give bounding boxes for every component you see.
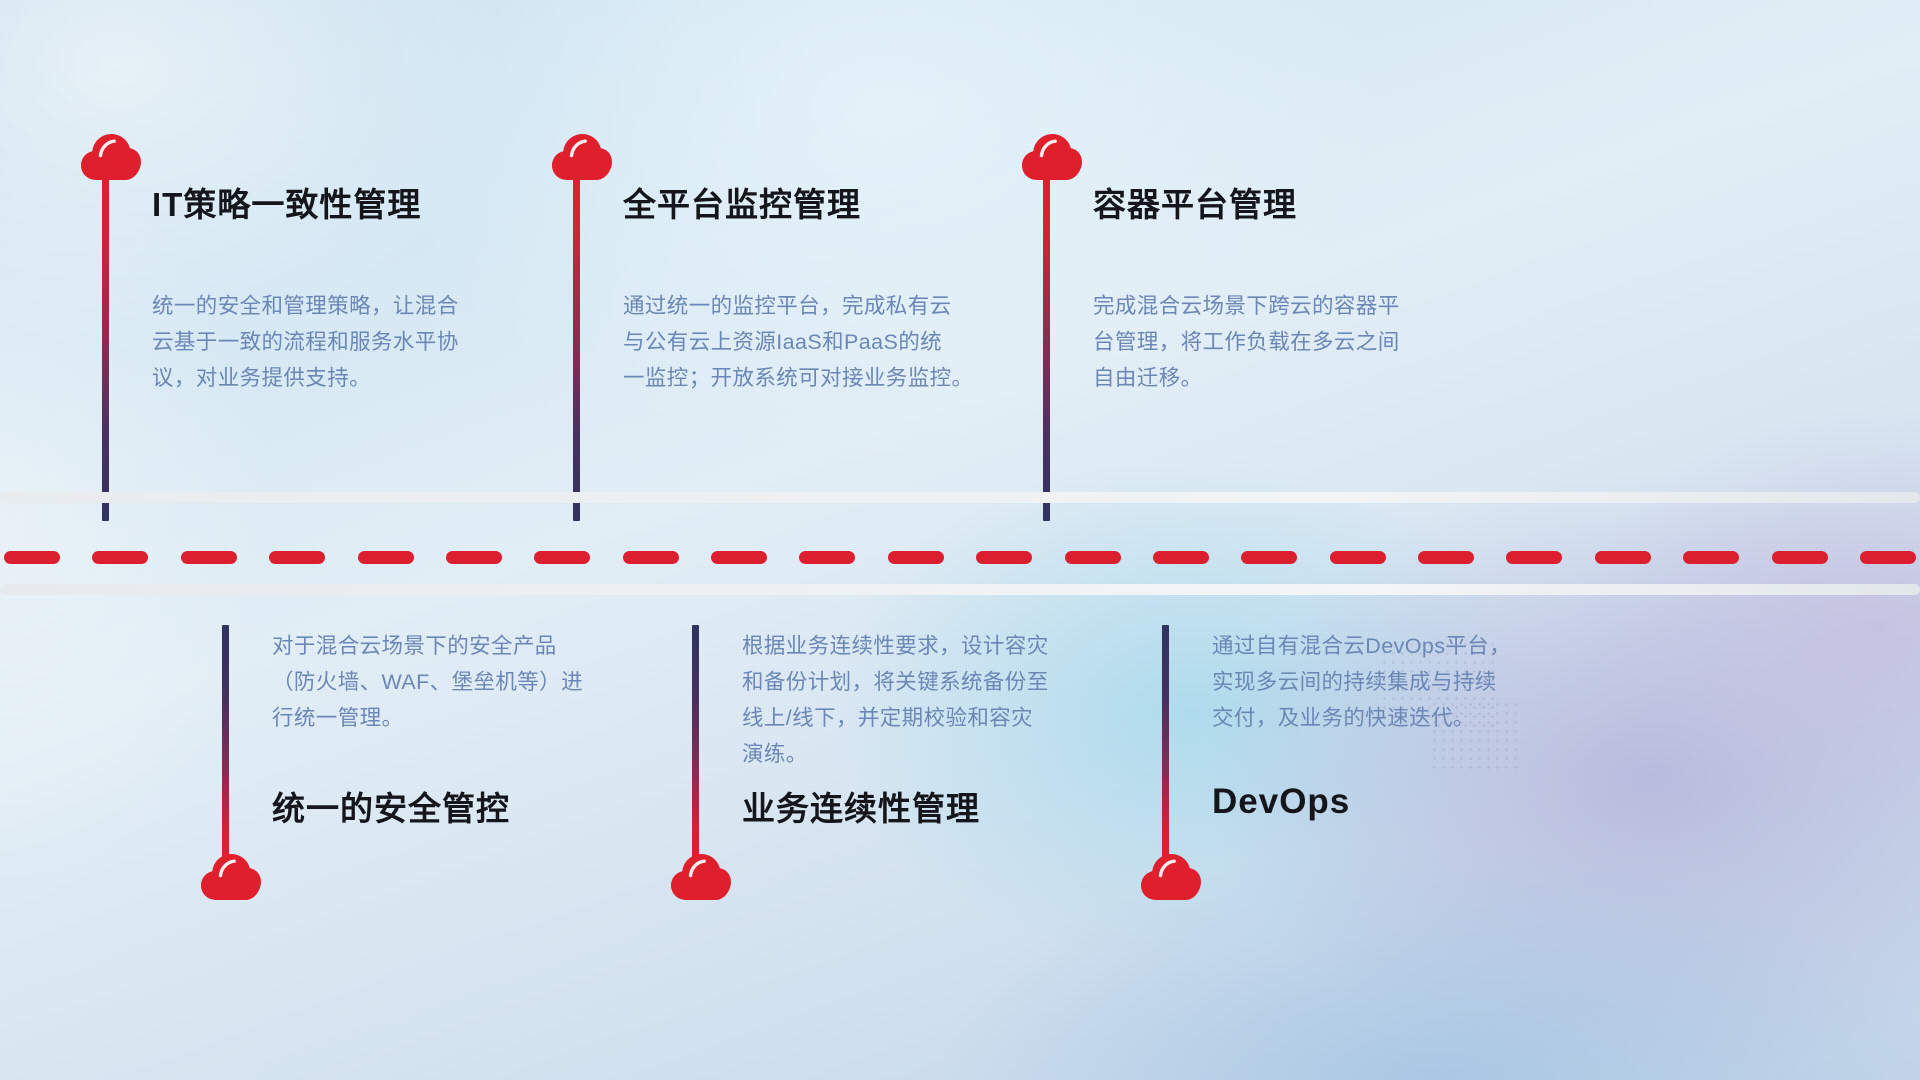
dash-segment	[888, 551, 944, 564]
description-line: 行统一管理。	[272, 700, 652, 736]
background-noise-texture	[0, 0, 1920, 1080]
dash-segment	[1065, 551, 1121, 564]
dash-segment	[711, 551, 767, 564]
description-line: 完成混合云场景下跨云的容器平	[1093, 288, 1473, 324]
dash-segment	[623, 551, 679, 564]
dash-segment	[799, 551, 855, 564]
cloud-icon	[551, 133, 613, 181]
cloud-icon	[670, 853, 732, 901]
dash-segment	[1418, 551, 1474, 564]
card-title: 业务连续性管理	[742, 782, 980, 830]
description-line: （防火墙、WAF、堡垒机等）进	[272, 664, 652, 700]
divider-bar-top	[0, 492, 1920, 503]
cloud-icon	[1140, 853, 1202, 901]
dash-segment	[358, 551, 414, 564]
card-description: 对于混合云场景下的安全产品 （防火墙、WAF、堡垒机等）进 行统一管理。	[272, 628, 652, 736]
dashed-separator	[0, 551, 1920, 564]
description-line: 线上/线下，并定期校验和容灾	[742, 700, 1122, 736]
description-line: 通过统一的监控平台，完成私有云	[623, 288, 1003, 324]
dash-segment	[92, 551, 148, 564]
dash-segment	[1506, 551, 1562, 564]
dash-segment	[1241, 551, 1297, 564]
description-line: 与公有云上资源IaaS和PaaS的统	[623, 324, 1003, 360]
dash-segment	[1330, 551, 1386, 564]
card-description: 完成混合云场景下跨云的容器平 台管理，将工作负载在多云之间 自由迁移。	[1093, 288, 1473, 396]
dash-segment	[446, 551, 502, 564]
description-line: 台管理，将工作负载在多云之间	[1093, 324, 1473, 360]
dash-segment	[181, 551, 237, 564]
card-title: 全平台监控管理	[623, 178, 861, 226]
description-line: 一监控；开放系统可对接业务监控。	[623, 360, 1003, 396]
description-line: 对于混合云场景下的安全产品	[272, 628, 652, 664]
dash-segment	[1772, 551, 1828, 564]
dash-segment	[976, 551, 1032, 564]
description-line: 实现多云间的持续集成与持续	[1212, 664, 1592, 700]
description-line: 自由迁移。	[1093, 360, 1473, 396]
description-line: 根据业务连续性要求，设计容灾	[742, 628, 1122, 664]
dash-segment	[4, 551, 60, 564]
description-line: 统一的安全和管理策略，让混合	[152, 288, 532, 324]
dash-segment	[1683, 551, 1739, 564]
card-description: 根据业务连续性要求，设计容灾 和备份计划，将关键系统备份至 线上/线下，并定期校…	[742, 628, 1122, 772]
dash-segment	[534, 551, 590, 564]
dash-segment	[1595, 551, 1651, 564]
dash-segment	[269, 551, 325, 564]
description-line: 交付，及业务的快速迭代。	[1212, 700, 1592, 736]
connector-stem	[573, 173, 580, 521]
divider-bar-bottom	[0, 584, 1920, 595]
card-description: 通过统一的监控平台，完成私有云 与公有云上资源IaaS和PaaS的统 一监控；开…	[623, 288, 1003, 396]
card-title: 容器平台管理	[1093, 178, 1297, 226]
card-title: DevOps	[1212, 782, 1350, 822]
connector-stem	[1162, 625, 1169, 863]
description-line: 演练。	[742, 736, 1122, 772]
connector-stem	[1043, 173, 1050, 521]
description-line: 通过自有混合云DevOps平台，	[1212, 628, 1592, 664]
card-description: 统一的安全和管理策略，让混合 云基于一致的流程和服务水平协 议，对业务提供支持。	[152, 288, 532, 396]
cloud-icon	[80, 133, 142, 181]
connector-stem	[102, 173, 109, 521]
cloud-icon	[1021, 133, 1083, 181]
description-line: 云基于一致的流程和服务水平协	[152, 324, 532, 360]
card-title: 统一的安全管控	[272, 782, 510, 830]
card-description: 通过自有混合云DevOps平台， 实现多云间的持续集成与持续 交付，及业务的快速…	[1212, 628, 1592, 736]
dash-segment	[1153, 551, 1209, 564]
cloud-icon	[200, 853, 262, 901]
description-line: 议，对业务提供支持。	[152, 360, 532, 396]
connector-stem	[222, 625, 229, 863]
description-line: 和备份计划，将关键系统备份至	[742, 664, 1122, 700]
dash-segment	[1860, 551, 1916, 564]
card-title: IT策略一致性管理	[152, 178, 421, 226]
connector-stem	[692, 625, 699, 863]
